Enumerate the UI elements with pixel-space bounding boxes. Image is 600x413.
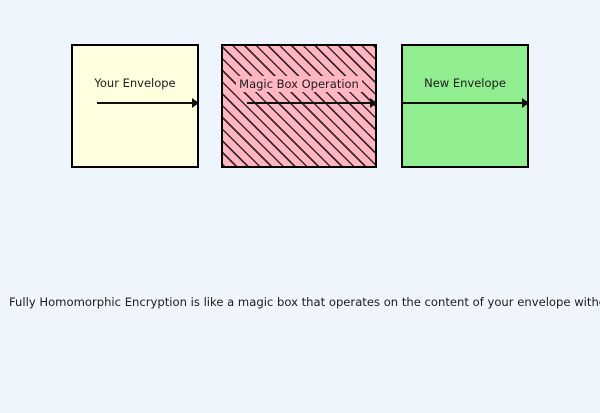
- stage-label-new-envelope: New Envelope: [403, 76, 527, 90]
- stage-label-text: Magic Box Operation: [236, 76, 362, 92]
- stage-label-magic-box-operation: Magic Box Operation: [223, 76, 375, 92]
- stage-label-your-envelope: Your Envelope: [73, 76, 197, 90]
- arrow-head-icon: [522, 98, 529, 108]
- flow-arrow-new-envelope: [401, 98, 529, 108]
- flow-arrow-magic-box-operation: [247, 98, 377, 108]
- arrow-head-icon: [192, 98, 199, 108]
- arrow-shaft-icon: [401, 102, 522, 104]
- arrow-shaft-icon: [247, 102, 370, 104]
- arrow-shaft-icon: [97, 102, 192, 104]
- diagram-caption: Fully Homomorphic Encryption is like a m…: [9, 295, 594, 310]
- arrow-head-icon: [370, 98, 377, 108]
- flow-arrow-your-envelope: [97, 98, 199, 108]
- diagram-canvas: Your Envelope Magic Box Operation New En…: [0, 0, 600, 413]
